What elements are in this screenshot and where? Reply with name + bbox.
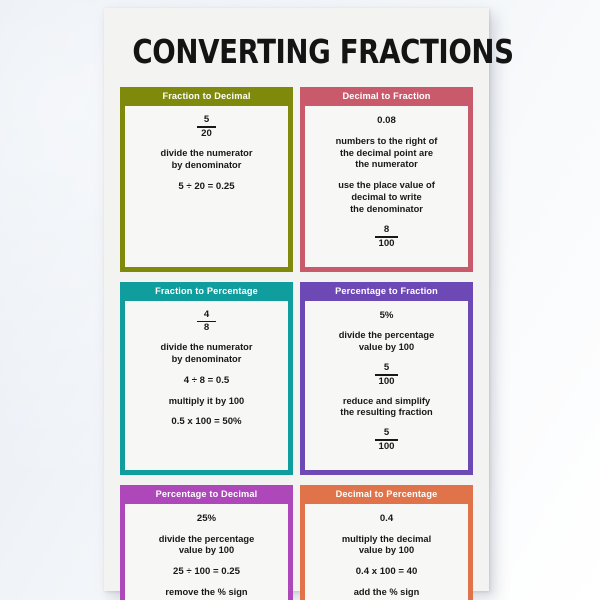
- card-instruction: use the place value of decimal to write …: [338, 180, 435, 216]
- card-instruction: divide the numerator by denominator: [161, 148, 253, 172]
- card-decimal-to-percentage: Decimal to Percentage0.4multiply the dec…: [300, 485, 473, 600]
- fraction-numerator: 5: [381, 428, 392, 439]
- card-header-percentage-to-decimal: Percentage to Decimal: [125, 485, 288, 504]
- fraction-denominator: 8: [201, 322, 212, 333]
- card-header-fraction-to-decimal: Fraction to Decimal: [125, 87, 288, 106]
- fraction-numerator: 4: [201, 310, 212, 321]
- card-instruction: reduce and simplify the resulting fracti…: [340, 396, 432, 420]
- card-body-fraction-to-percentage: 48divide the numerator by denominator4 ÷…: [125, 301, 288, 470]
- card-value: 0.5 x 100 = 50%: [171, 416, 241, 428]
- card-instruction: remove the % sign: [165, 587, 247, 599]
- card-instruction: divide the numerator by denominator: [161, 342, 253, 366]
- card-header-fraction-to-percentage: Fraction to Percentage: [125, 282, 288, 301]
- card-body-decimal-to-percentage: 0.4multiply the decimal value by 1000.4 …: [305, 504, 468, 600]
- card-header-percentage-to-fraction: Percentage to Fraction: [305, 282, 468, 301]
- card-value: 25 ÷ 100 = 0.25: [173, 566, 240, 578]
- fraction: 520: [197, 115, 216, 139]
- fraction-denominator: 100: [375, 376, 397, 387]
- card-header-decimal-to-percentage: Decimal to Percentage: [305, 485, 468, 504]
- card-fraction-to-decimal: Fraction to Decimal520divide the numerat…: [120, 87, 293, 272]
- card-header-decimal-to-fraction: Decimal to Fraction: [305, 87, 468, 106]
- card-grid: Fraction to Decimal520divide the numerat…: [120, 87, 473, 600]
- card-instruction: multiply the decimal value by 100: [342, 534, 431, 558]
- card-instruction: add the % sign: [354, 587, 420, 599]
- page-title: CONVERTING FRACTIONS: [132, 35, 460, 68]
- card-body-percentage-to-fraction: 5%divide the percentage value by 1005100…: [305, 301, 468, 470]
- card-value: 0.4: [380, 513, 393, 525]
- poster: CONVERTING FRACTIONS Fraction to Decimal…: [104, 8, 489, 591]
- fraction-denominator: 100: [375, 441, 397, 452]
- fraction-numerator: 5: [381, 363, 392, 374]
- card-instruction: numbers to the right of the decimal poin…: [336, 136, 438, 172]
- card-instruction: divide the percentage value by 100: [339, 330, 435, 354]
- card-fraction-to-percentage: Fraction to Percentage48divide the numer…: [120, 282, 293, 475]
- fraction: 5100: [375, 363, 397, 387]
- fraction-numerator: 8: [381, 225, 392, 236]
- card-value: 4 ÷ 8 = 0.5: [184, 375, 230, 387]
- card-value: 0.08: [377, 115, 396, 127]
- card-value: 25%: [197, 513, 216, 525]
- card-decimal-to-fraction: Decimal to Fraction0.08numbers to the ri…: [300, 87, 473, 272]
- card-instruction: divide the percentage value by 100: [159, 534, 255, 558]
- fraction-denominator: 20: [198, 128, 215, 139]
- card-body-percentage-to-decimal: 25%divide the percentage value by 10025 …: [125, 504, 288, 600]
- card-value: 5%: [380, 310, 394, 322]
- fraction-numerator: 5: [201, 115, 212, 126]
- card-value: 5 ÷ 20 = 0.25: [178, 181, 234, 193]
- card-instruction: multiply it by 100: [169, 396, 244, 408]
- fraction: 8100: [375, 225, 397, 249]
- fraction: 48: [197, 310, 216, 334]
- card-body-decimal-to-fraction: 0.08numbers to the right of the decimal …: [305, 106, 468, 266]
- fraction: 5100: [375, 428, 397, 452]
- poster-inner: CONVERTING FRACTIONS Fraction to Decimal…: [104, 8, 489, 591]
- card-percentage-to-decimal: Percentage to Decimal25%divide the perce…: [120, 485, 293, 600]
- card-percentage-to-fraction: Percentage to Fraction5%divide the perce…: [300, 282, 473, 475]
- fraction-denominator: 100: [375, 238, 397, 249]
- card-body-fraction-to-decimal: 520divide the numerator by denominator5 …: [125, 106, 288, 266]
- card-value: 0.4 x 100 = 40: [356, 566, 418, 578]
